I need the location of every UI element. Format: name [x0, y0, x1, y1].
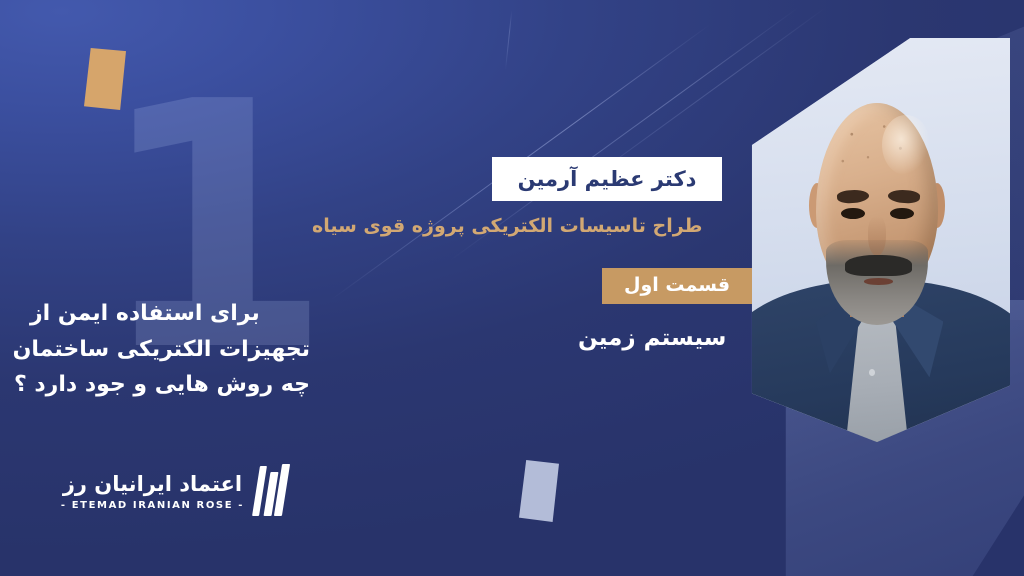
episode-title: سیستم زمین: [578, 325, 726, 351]
headline-line-1: برای استفاده ایمن از: [30, 296, 310, 332]
gold-parallelogram-icon: [84, 48, 126, 110]
episode-badge: قسمت اول: [602, 268, 752, 304]
portrait-eye-left: [841, 208, 865, 219]
portrait-mouth: [864, 278, 893, 284]
pillar-mark-icon: [254, 464, 288, 518]
speaker-role-text: طراح تاسیسات الکتریکی پروژه قوی سیاه: [312, 215, 724, 237]
portrait-highlight: [882, 115, 930, 176]
diagonal-streak-icon: [505, 10, 512, 70]
pale-parallelogram-icon: [519, 460, 559, 522]
portrait-eye-right: [890, 208, 914, 219]
headline-question: برای استفاده ایمن از تجهیزات الکتریکی سا…: [30, 296, 310, 403]
headline-line-3: چه روش هایی و جود دارد ؟: [30, 367, 310, 403]
speaker-portrait-image: [744, 38, 1010, 442]
brand-text: اعتماد ایرانیان رز - ETEMAD IRANIAN ROSE…: [61, 472, 244, 511]
headline-line-2: تجهیزات الکتریکی ساختمان: [30, 332, 310, 368]
speaker-portrait-panel: [744, 38, 1010, 442]
speaker-name-box: دکتر عظیم آرمین: [492, 157, 722, 201]
brand-lockup: اعتماد ایرانیان رز - ETEMAD IRANIAN ROSE…: [68, 455, 288, 527]
brand-name-en: - ETEMAD IRANIAN ROSE -: [61, 500, 244, 511]
video-cover-slide: 1 دکتر عظیم آرمین: [0, 0, 1024, 576]
portrait-moustache: [845, 255, 912, 276]
brand-name-fa: اعتماد ایرانیان رز: [63, 472, 242, 496]
